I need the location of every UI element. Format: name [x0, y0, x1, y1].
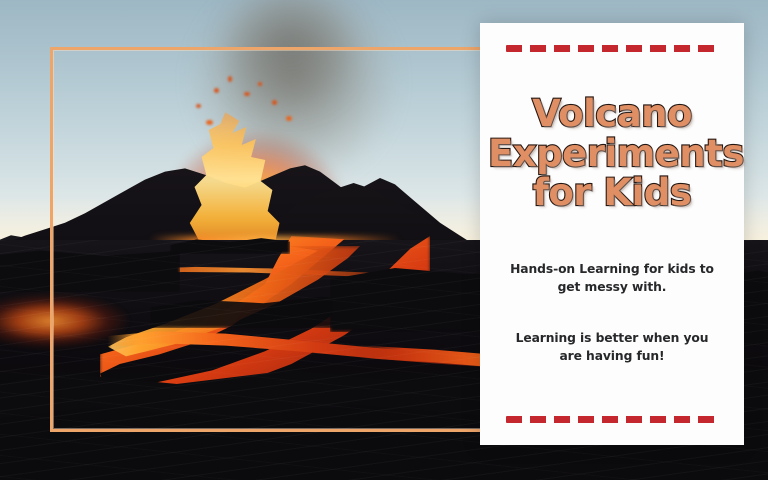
poster-canvas: Volcano Experiments for Kids Hands-on Le… [0, 0, 768, 480]
dashed-divider-bottom [506, 416, 719, 423]
title-line-2: Experiments [488, 134, 736, 174]
title-block: Volcano Experiments for Kids [480, 94, 744, 213]
page-title: Volcano Experiments for Kids [480, 94, 744, 213]
dashed-divider-top [506, 45, 719, 52]
subtitle-paragraph-1: Hands-on Learning for kids to get messy … [505, 261, 719, 297]
text-card: Volcano Experiments for Kids Hands-on Le… [480, 23, 744, 445]
subtitle-paragraph-2: Learning is better when you are having f… [505, 330, 719, 366]
decorative-frame [50, 47, 537, 432]
title-line-3: for Kids [488, 173, 736, 213]
title-line-1: Volcano [488, 94, 736, 134]
